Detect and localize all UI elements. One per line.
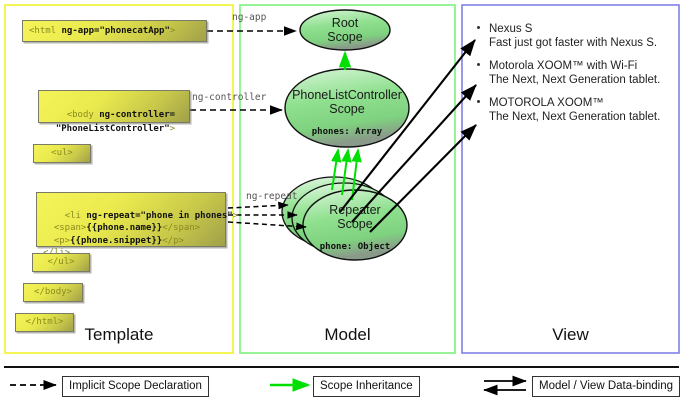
code-block-ul-open[interactable]: <ul> [33, 144, 91, 163]
code-line-3: <p>{{phone.snippet}}</p> [43, 236, 184, 246]
controller-scope-ellipse [285, 69, 409, 147]
panel-model-border [240, 5, 455, 353]
code-text: <ul> [51, 148, 73, 159]
code-line-1: <li ng-repeat="phone in phones"> [65, 211, 238, 221]
root-scope-ellipse [300, 10, 390, 50]
edge-label-ng-controller: ng-controller [192, 92, 266, 103]
panel-label-model: Model [240, 325, 455, 345]
code-text: </body> [34, 287, 72, 298]
repeater-scope-ellipse-front [303, 190, 407, 260]
code-line-2: "PhoneListController"> [45, 124, 175, 134]
phone-name: Motorola XOOM™ with Wi-Fi [477, 59, 673, 73]
edge-label-ng-repeat: ng-repeat [246, 191, 297, 202]
ng-repeat-arrow-1 [228, 205, 288, 208]
view-phone-list: Nexus S Fast just got faster with Nexus … [477, 22, 673, 133]
code-block-li[interactable]: <li ng-repeat="phone in phones"> <span>{… [36, 192, 226, 247]
controller-scope-label: PhoneListController Scope [277, 88, 417, 116]
controller-scope-title-line2: Scope [277, 102, 417, 116]
controller-scope-property: phones: Array [277, 127, 417, 137]
phone-name: MOTOROLA XOOM™ [477, 96, 673, 110]
repeater-scope-title-line2: Scope [300, 217, 410, 231]
code-text: </ul> [47, 257, 74, 268]
legend-label-model-view-data-binding: Model / View Data-binding [532, 376, 680, 397]
list-item[interactable]: Nexus S Fast just got faster with Nexus … [477, 22, 673, 50]
phone-name: Nexus S [477, 22, 673, 36]
repeater-scope-ellipse-back2 [282, 177, 386, 247]
bullet-icon [477, 63, 480, 66]
databinding-arrow-item-3 [370, 125, 476, 232]
ng-repeat-arrow-3 [228, 222, 306, 227]
code-block-body-close[interactable]: </body> [23, 283, 83, 302]
code-block-body-tag[interactable]: <body ng-controller= "PhoneListControlle… [38, 90, 190, 123]
list-item[interactable]: MOTOROLA XOOM™ The Next, Next Generation… [477, 96, 673, 124]
panel-label-template: Template [5, 325, 233, 345]
phone-snippet: The Next, Next Generation tablet. [477, 110, 673, 124]
databinding-arrow-item-1 [340, 40, 475, 212]
repeater-scope-ellipse-back1 [292, 183, 396, 253]
root-scope-title-line1: Root [300, 16, 390, 30]
code-block-html-tag[interactable]: <html ng-app="phonecatApp"> [22, 20, 207, 42]
diagram-canvas: <html ng-app="phonecatApp"> <body ng-con… [0, 0, 683, 411]
bullet-icon [477, 100, 480, 103]
repeater-scope-title-line1: Repeater [300, 203, 410, 217]
root-scope-title-line2: Scope [300, 30, 390, 44]
bullet-icon [477, 26, 480, 29]
inheritance-arrow-repeater2-to-controller [342, 150, 348, 195]
repeater-scope-property: phone: Object [300, 242, 410, 252]
databinding-arrow-item-2 [352, 85, 476, 222]
edge-label-ng-app: ng-app [232, 12, 266, 23]
code-block-ul-close[interactable]: </ul> [32, 253, 90, 272]
inheritance-arrow-repeater3-to-controller [352, 150, 358, 200]
code-line-1: <body ng-controller= [67, 110, 175, 120]
legend-label-scope-inheritance: Scope Inheritance [313, 376, 420, 397]
root-scope-label: Root Scope [300, 16, 390, 44]
legend-divider [4, 366, 679, 368]
phone-snippet: The Next, Next Generation tablet. [477, 73, 673, 87]
phone-snippet: Fast just got faster with Nexus S. [477, 36, 673, 50]
code-line: <html ng-app="phonecatApp"> [29, 26, 175, 37]
inheritance-arrow-repeater1-to-controller [332, 150, 338, 190]
controller-scope-title-line1: PhoneListController [277, 88, 417, 102]
list-item[interactable]: Motorola XOOM™ with Wi-Fi The Next, Next… [477, 59, 673, 87]
panel-label-view: View [462, 325, 679, 345]
repeater-scope-label: Repeater Scope [300, 203, 410, 231]
legend-label-implicit-scope-declaration: Implicit Scope Declaration [62, 376, 209, 397]
code-line-2: <span>{{phone.name}}</span> [43, 223, 200, 233]
